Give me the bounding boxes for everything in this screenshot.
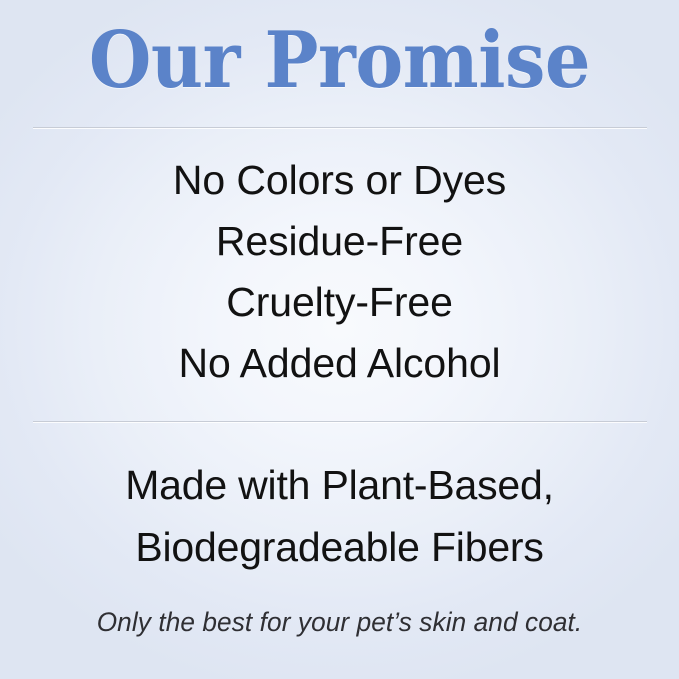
claim-item: Residue-Free [0, 211, 679, 272]
tagline-zone: Only the best for your pet’s skin and co… [0, 608, 679, 638]
fibers-statement-line: Biodegradeable Fibers [0, 516, 679, 578]
divider-middle [33, 421, 647, 422]
claims-list: No Colors or Dyes Residue-Free Cruelty-F… [0, 150, 679, 394]
our-promise-card: Our Promise No Colors or Dyes Residue-Fr… [0, 0, 679, 679]
claim-item: Cruelty-Free [0, 272, 679, 333]
title-zone: Our Promise [0, 22, 679, 100]
fibers-statement: Made with Plant-Based, Biodegradeable Fi… [0, 454, 679, 578]
divider-top [33, 127, 647, 128]
claim-item: No Added Alcohol [0, 333, 679, 394]
claim-item: No Colors or Dyes [0, 150, 679, 211]
tagline: Only the best for your pet’s skin and co… [10, 608, 669, 638]
fibers-statement-line: Made with Plant-Based, [0, 454, 679, 516]
page-title: Our Promise [27, 22, 652, 100]
